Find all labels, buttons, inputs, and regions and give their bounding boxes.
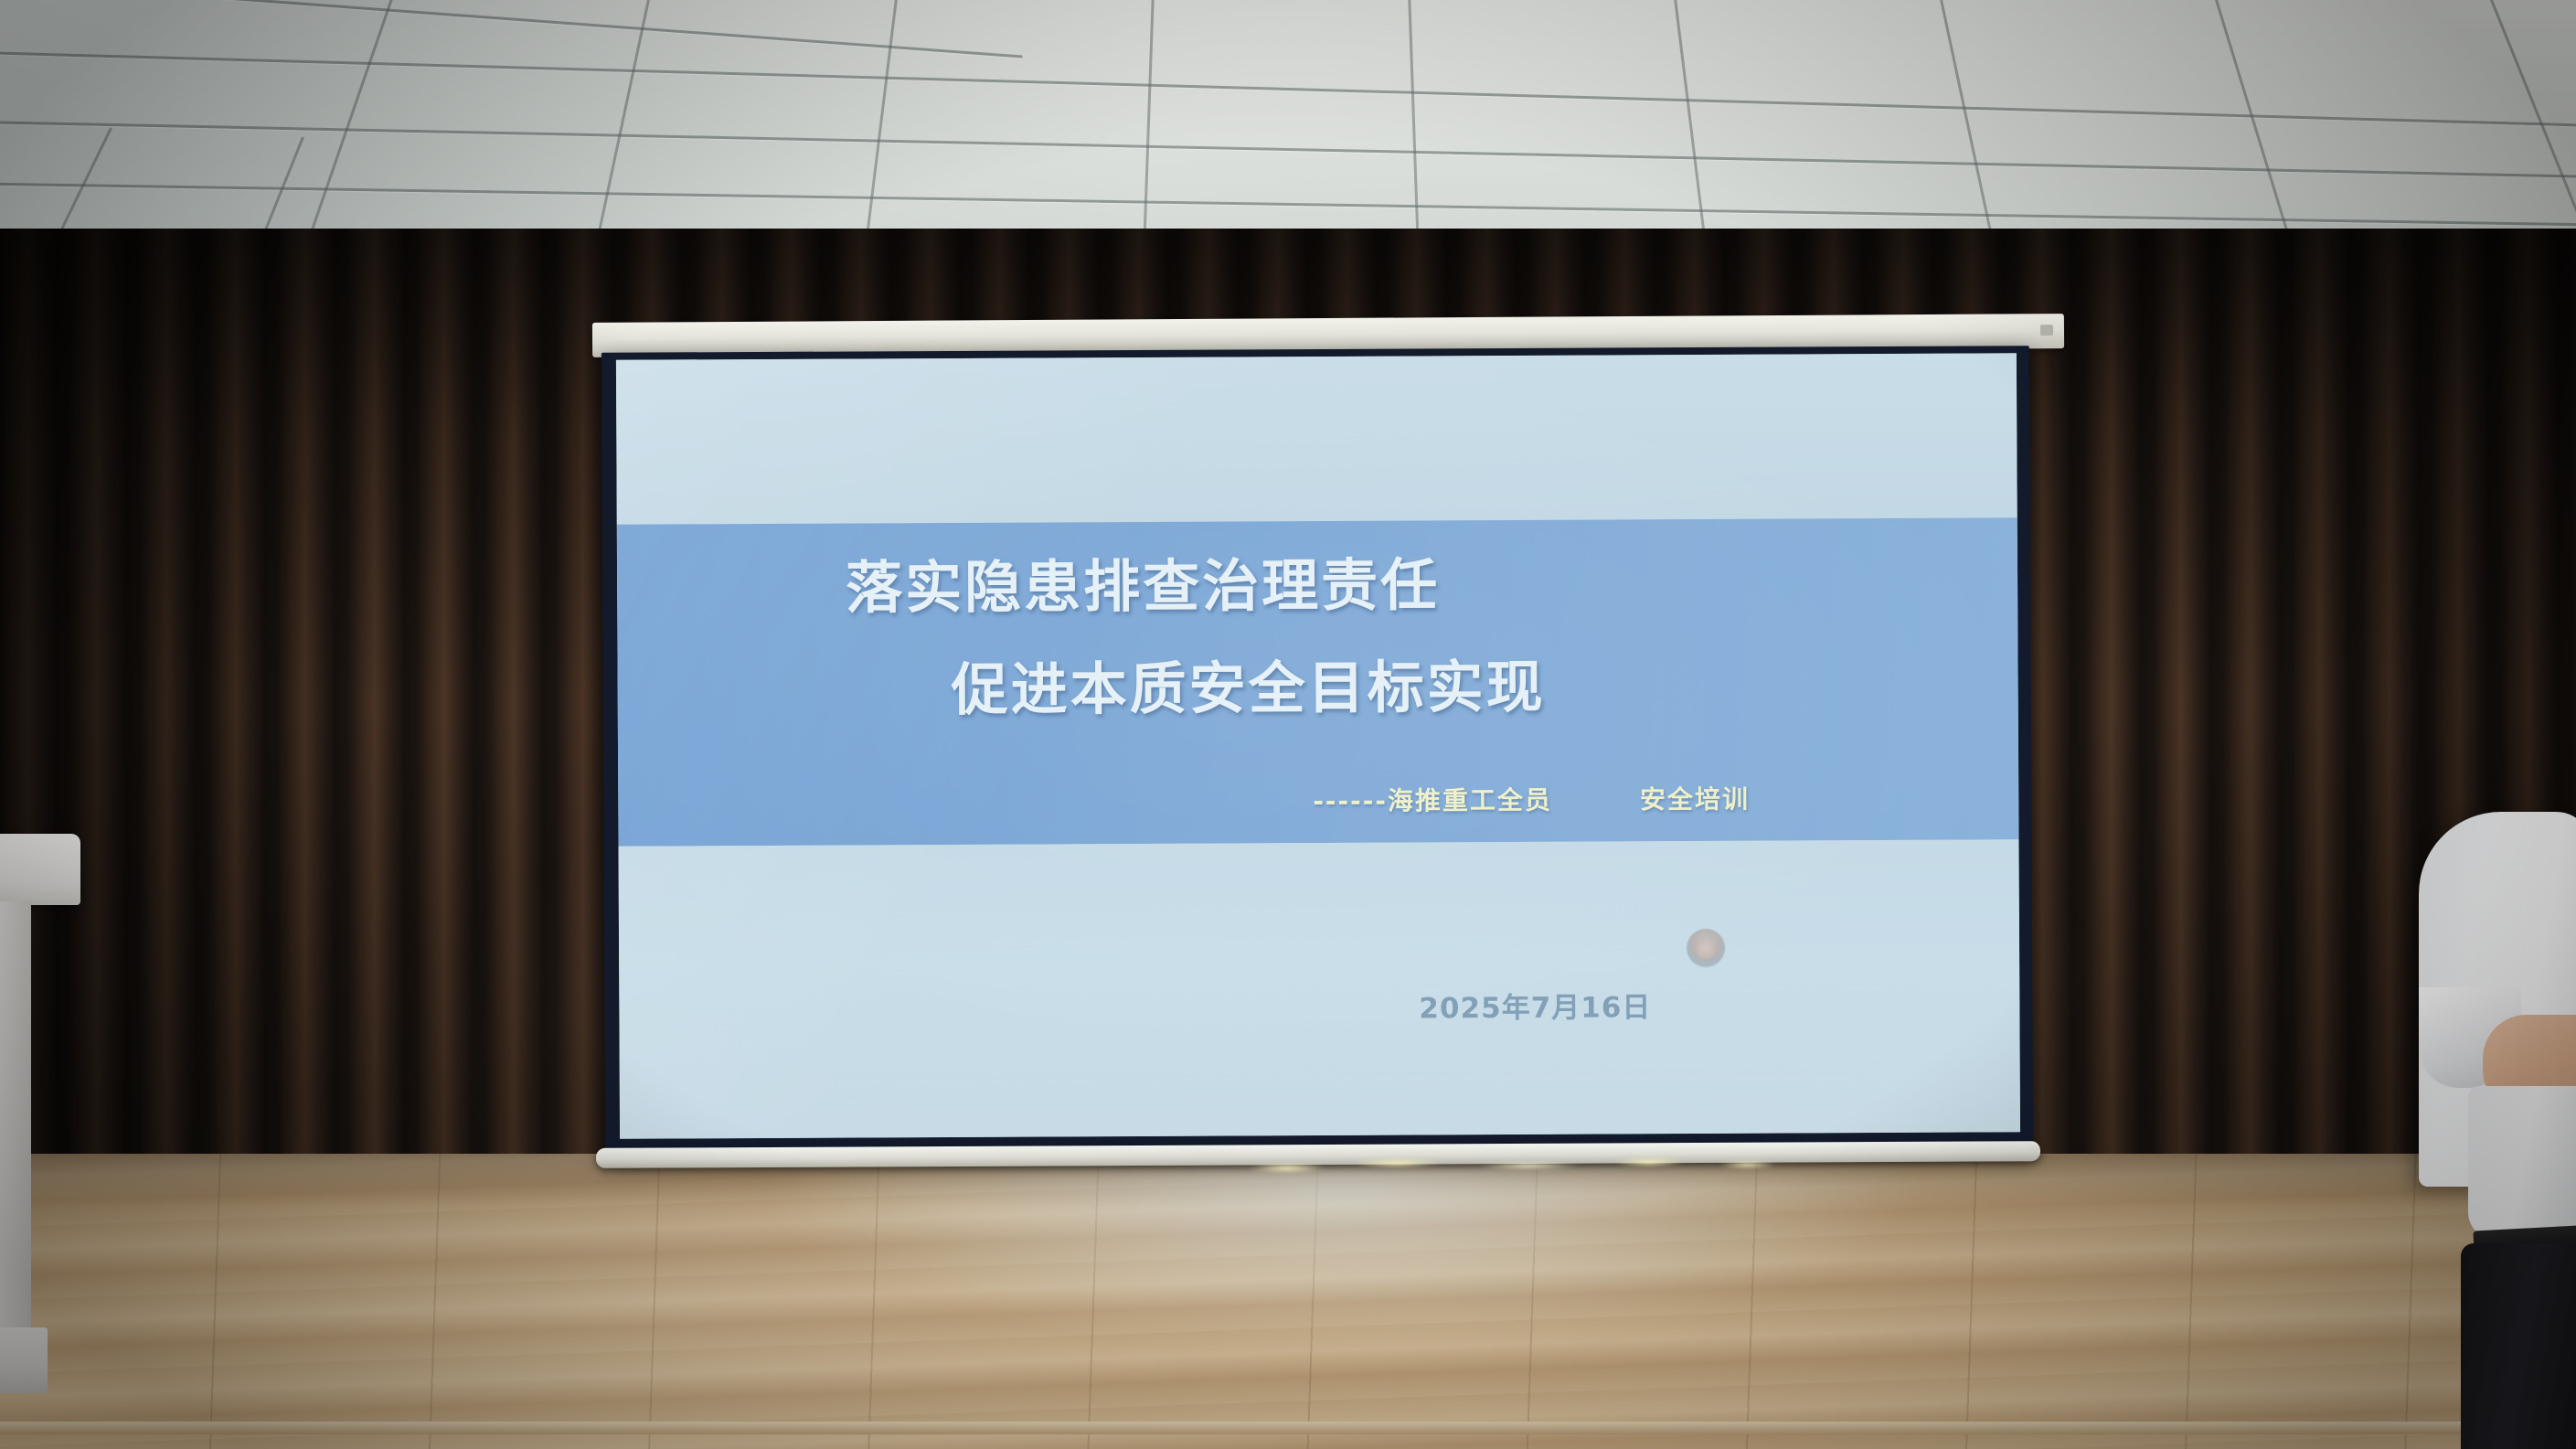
slide-bottom-area [618,839,2020,1138]
slide-subtitle-row: ------海推重工全员 安全培训 [1313,780,1750,818]
projected-slide: 落实隐患排查治理责任 促进本质安全目标实现 ------海推重工全员 安全培训 … [616,353,2020,1138]
room-photo-scene: 落实隐患排查治理责任 促进本质安全目标实现 ------海推重工全员 安全培训 … [0,0,2576,1449]
slide-top-area [616,353,2017,524]
slide-subtitle-right: 安全培训 [1640,780,1750,817]
standing-person [2402,812,2576,1449]
person-torso-lower [2468,1086,2576,1240]
lectern[interactable] [0,834,80,1401]
slide-title-line-1: 落实隐患排查治理责任 [846,538,1440,623]
lectern-base [0,1327,48,1393]
floor-front-trim [0,1422,2576,1434]
housing-end-cap [2040,325,2053,336]
slide-date: 2025年7月16日 [1419,984,1651,1026]
slide-subtitle-left: ------海推重工全员 [1313,781,1552,818]
ceiling [0,0,2576,238]
lectern-column [0,901,31,1333]
projector-screen[interactable]: 落实隐患排查治理责任 促进本质安全目标实现 ------海推重工全员 安全培训 … [601,346,2033,1157]
projector-light-streak [1243,1148,1792,1179]
presenter-avatar-icon [1687,929,1725,967]
person-pants [2461,1243,2576,1449]
projector-floor-glow [631,1161,2057,1435]
lectern-top [0,834,80,905]
slide-title-line-2: 促进本质安全目标实现 [951,641,1545,726]
